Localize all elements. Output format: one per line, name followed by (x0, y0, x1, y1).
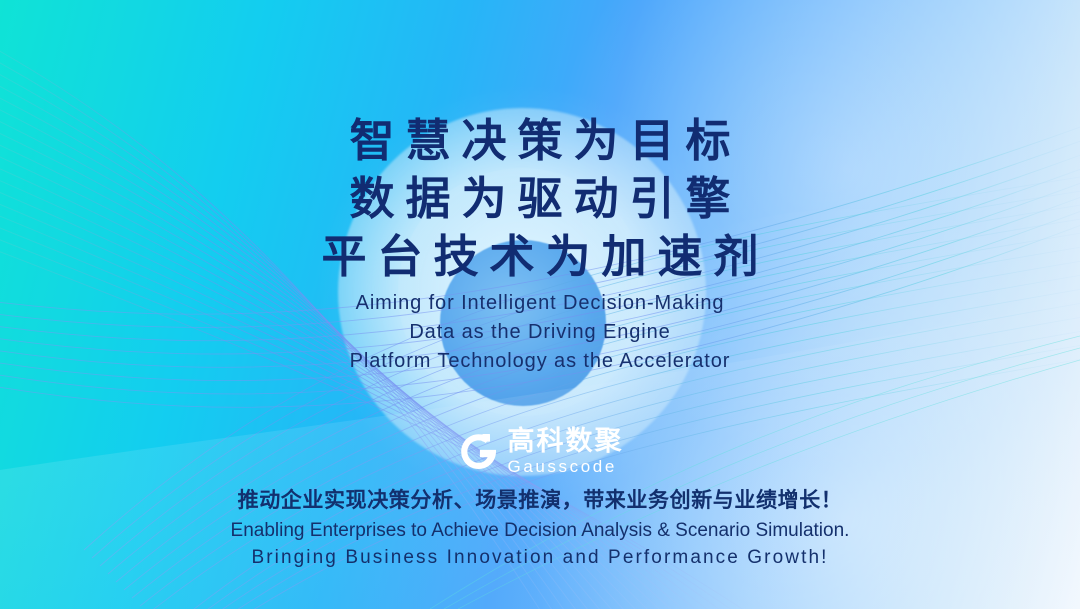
headline-line-1: 智慧决策为目标 (0, 112, 1080, 170)
tagline-chinese: 推动企业实现决策分析、场景推演，带来业务创新与业绩增长！ (0, 484, 1080, 514)
logo-name-en: Gausscode (508, 458, 617, 475)
page-title: 智慧决策为目标 数据为驱动引擎 平台技术为加速剂 (0, 112, 1080, 286)
tagline-english-line-1: Enabling Enterprises to Achieve Decision… (0, 517, 1080, 544)
subtitle-line-1: Aiming for Intelligent Decision-Making (0, 289, 1080, 318)
poster-canvas: 智慧决策为目标 数据为驱动引擎 平台技术为加速剂 Aiming for Inte… (0, 0, 1080, 609)
subtitle-line-3: Platform Technology as the Accelerator (0, 347, 1080, 376)
headline-line-2: 数据为驱动引擎 (0, 170, 1080, 228)
tagline-english: Enabling Enterprises to Achieve Decision… (0, 517, 1080, 571)
subtitle-line-2: Data as the Driving Engine (0, 318, 1080, 347)
tagline-english-line-2: Bringing Business Innovation and Perform… (0, 544, 1080, 571)
logo-name-cn: 高科数聚 (508, 428, 624, 455)
headline-line-3: 平台技术为加速剂 (0, 228, 1080, 286)
subtitle-block: Aiming for Intelligent Decision-Making D… (0, 289, 1080, 376)
logo-wordmark: 高科数聚 Gausscode (508, 428, 624, 475)
poster-content: 智慧决策为目标 数据为驱动引擎 平台技术为加速剂 Aiming for Inte… (0, 0, 1080, 609)
brand-logo: 高科数聚 Gausscode (0, 428, 1080, 475)
gausscode-logo-mark-icon (457, 431, 499, 473)
